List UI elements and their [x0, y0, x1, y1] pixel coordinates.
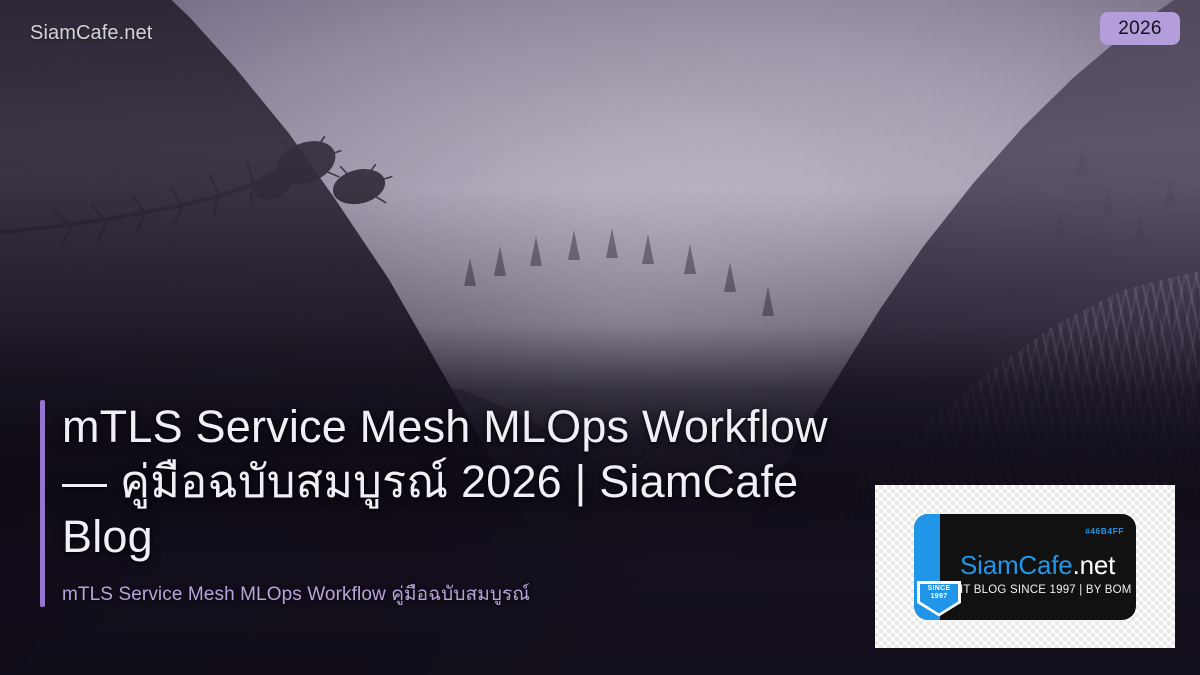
brand-logo: #46B4FF SiamCafe.net IT BLOG SINCE 1997 … — [914, 514, 1136, 620]
logo-wordmark-suffix: .net — [1073, 550, 1116, 580]
page-title: mTLS Service Mesh MLOps Workflow — คู่มื… — [62, 400, 862, 565]
since-badge-line2: 1997 — [917, 593, 961, 602]
since-badge-icon: SINCE 1997 — [917, 581, 961, 617]
hero-title-block: mTLS Service Mesh MLOps Workflow — คู่มื… — [40, 400, 870, 607]
hero-banner: SiamCafe.net 2026 mTLS Service Mesh MLOp… — [0, 0, 1200, 675]
logo-hex-code: #46B4FF — [1085, 526, 1124, 536]
hero-text-group: mTLS Service Mesh MLOps Workflow — คู่มื… — [45, 400, 862, 607]
brand-logo-card: #46B4FF SiamCafe.net IT BLOG SINCE 1997 … — [875, 485, 1175, 648]
site-watermark: SiamCafe.net — [30, 22, 152, 45]
page-subtitle: mTLS Service Mesh MLOps Workflow คู่มือฉ… — [62, 582, 862, 608]
logo-tagline: IT BLOG SINCE 1997 | BY BOM — [960, 584, 1132, 596]
logo-wordmark-primary: SiamCafe — [960, 550, 1073, 580]
logo-wordmark: SiamCafe.net — [960, 550, 1115, 581]
year-badge: 2026 — [1100, 12, 1180, 45]
since-badge-line1: SINCE — [917, 585, 961, 594]
